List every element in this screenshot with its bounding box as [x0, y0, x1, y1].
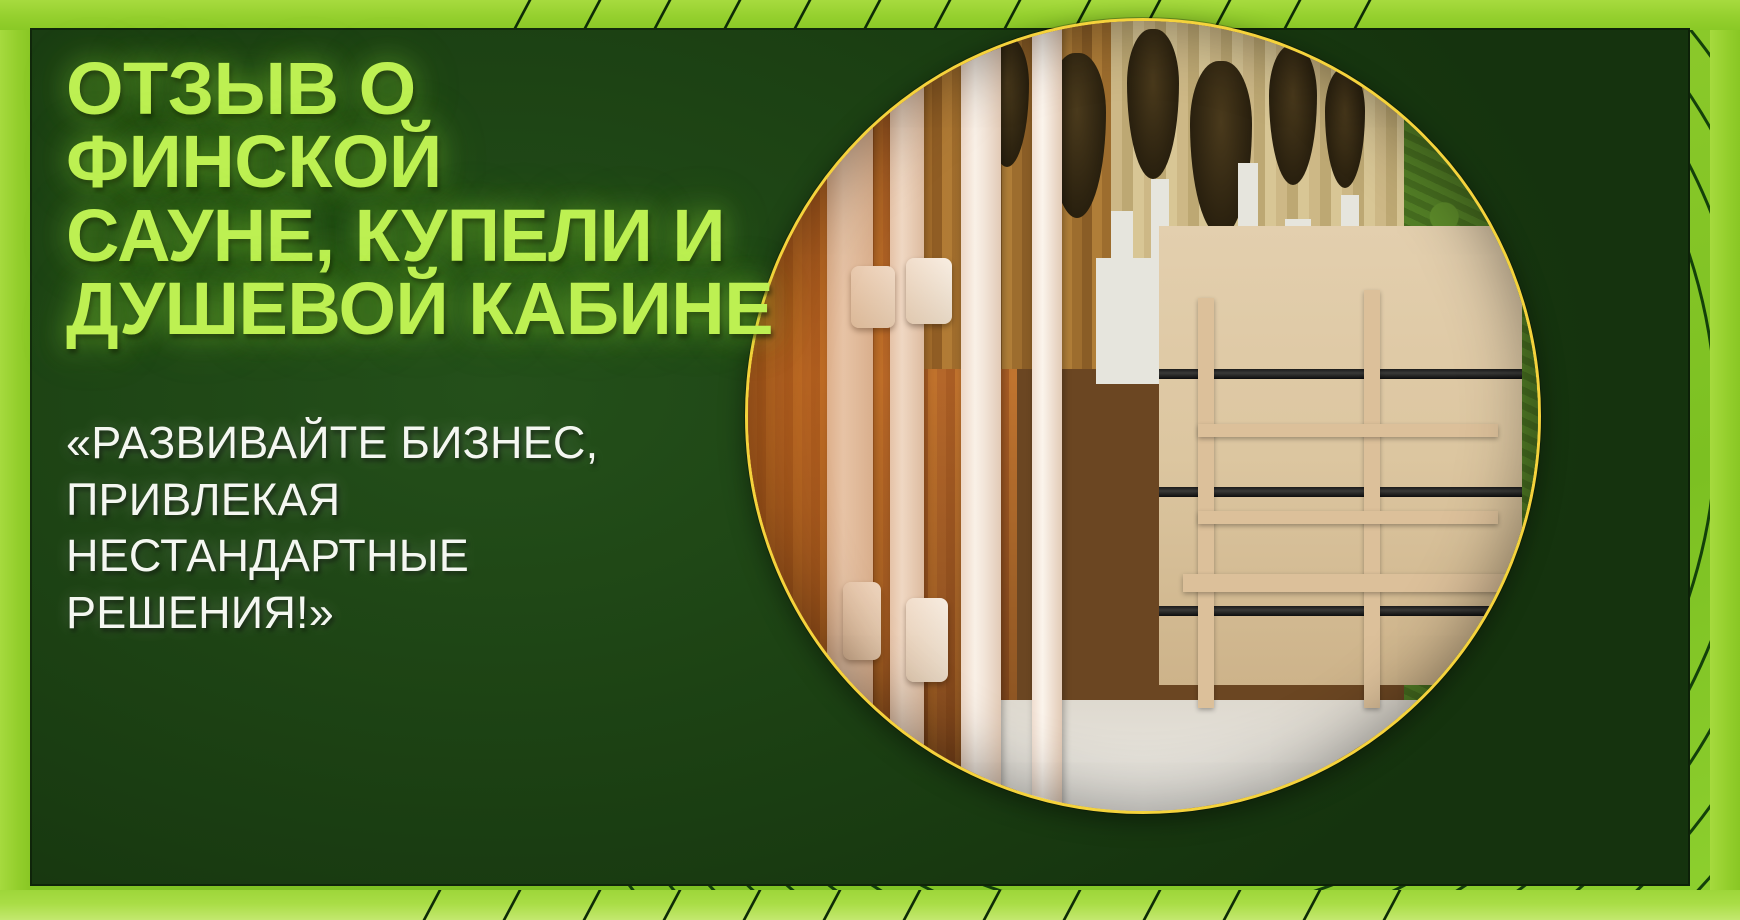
bar-slash	[975, 890, 1008, 920]
bar-slash	[505, 0, 538, 30]
bar-slash	[575, 890, 608, 920]
bar-slash	[655, 890, 688, 920]
promo-banner: ОТЗЫВ О ФИНСКОЙ САУНЕ, КУПЕЛИ И ДУШЕВОЙ …	[0, 0, 1740, 920]
page-title: ОТЗЫВ О ФИНСКОЙ САУНЕ, КУПЕЛИ И ДУШЕВОЙ …	[66, 52, 786, 345]
title-line-1: ОТЗЫВ О ФИНСКОЙ	[66, 52, 786, 199]
sauna-photo	[745, 18, 1541, 814]
bar-slash	[495, 890, 528, 920]
photo-vignette	[748, 21, 1538, 811]
frame-bar-bottom	[0, 890, 1740, 920]
sauna-photo-image	[748, 21, 1538, 811]
subtitle-line-2: ПРИВЛЕКАЯ	[66, 472, 786, 529]
title-line-2: САУНЕ, КУПЕЛИ И	[66, 199, 786, 272]
bar-slash	[715, 0, 748, 30]
subtitle-line-4: РЕШЕНИЯ!»	[66, 585, 786, 642]
subtitle-line-3: НЕСТАНДАРТНЫЕ	[66, 528, 786, 585]
bar-slash	[1375, 890, 1408, 920]
bar-slash	[1055, 890, 1088, 920]
bar-slash	[815, 890, 848, 920]
bar-slash	[645, 0, 678, 30]
bar-slash	[895, 890, 928, 920]
copy-block: ОТЗЫВ О ФИНСКОЙ САУНЕ, КУПЕЛИ И ДУШЕВОЙ …	[66, 52, 786, 642]
subtitle-line-1: «РАЗВИВАЙТЕ БИЗНЕС,	[66, 415, 786, 472]
subtitle-quote: «РАЗВИВАЙТЕ БИЗНЕС, ПРИВЛЕКАЯ НЕСТАНДАРТ…	[66, 415, 786, 642]
frame-rail-right	[1710, 0, 1740, 920]
bar-slash	[1215, 890, 1248, 920]
frame-rail-left	[0, 0, 30, 920]
bar-slash	[415, 890, 448, 920]
title-line-3: ДУШЕВОЙ КАБИНЕ	[66, 272, 786, 345]
bar-slash	[1295, 890, 1328, 920]
bar-slash	[735, 890, 768, 920]
bar-slash	[575, 0, 608, 30]
bar-slash	[1135, 890, 1168, 920]
